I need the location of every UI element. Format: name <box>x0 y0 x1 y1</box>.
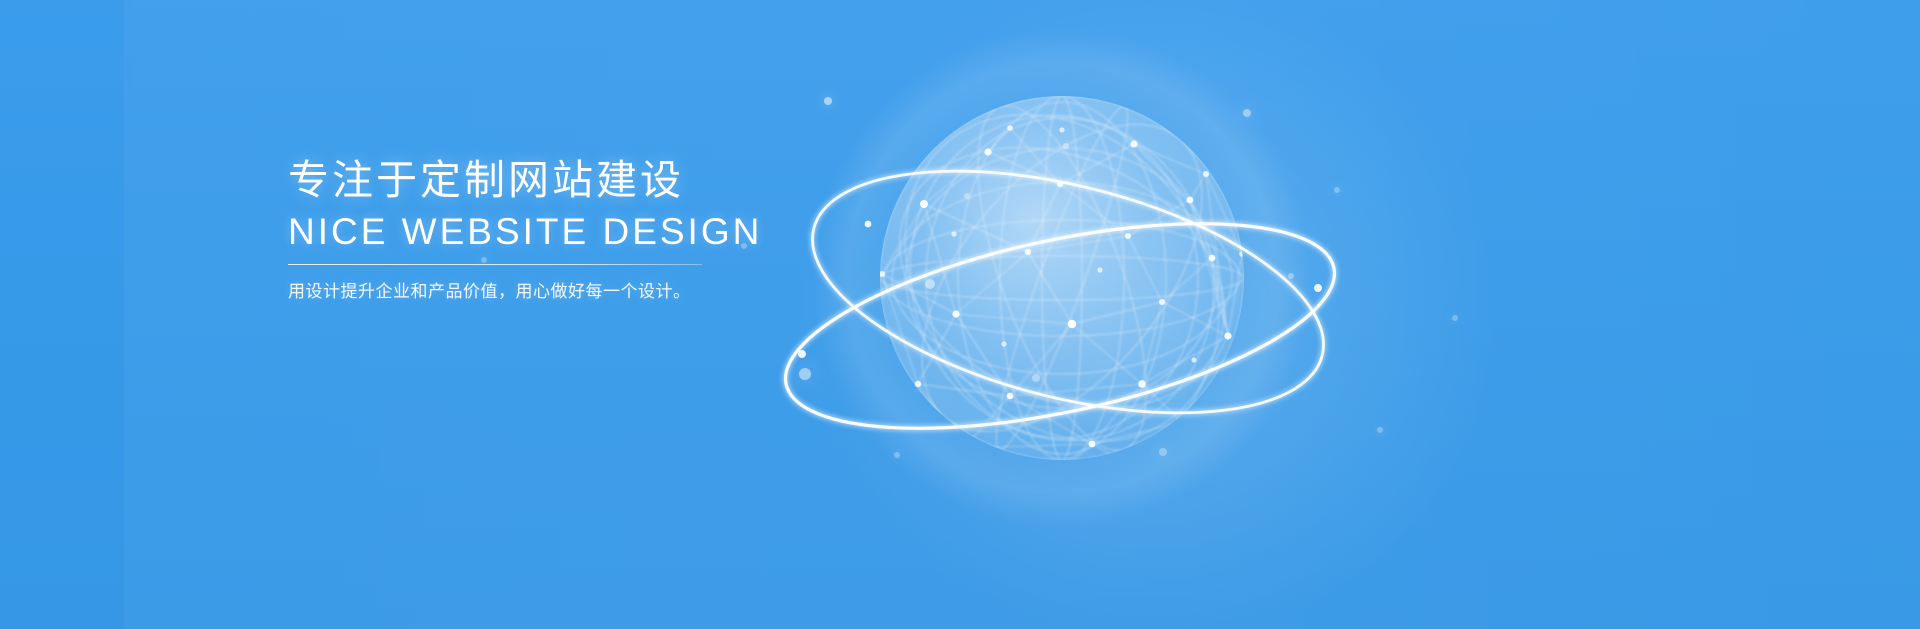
divider-rule <box>288 264 702 265</box>
sub-copy: 用设计提升企业和产品价值，用心做好每一个设计。 <box>288 281 718 305</box>
banner-copy: 专注于定制网站建设 NICE WEBSITE DESIGN 用设计提升企业和产品… <box>288 160 718 305</box>
headline-english: NICE WEBSITE DESIGN <box>288 213 718 264</box>
headline-chinese: 专注于定制网站建设 <box>288 160 718 201</box>
hero-banner: 专注于定制网站建设 NICE WEBSITE DESIGN 用设计提升企业和产品… <box>0 0 1920 629</box>
network-globe-graphic <box>742 24 1382 584</box>
